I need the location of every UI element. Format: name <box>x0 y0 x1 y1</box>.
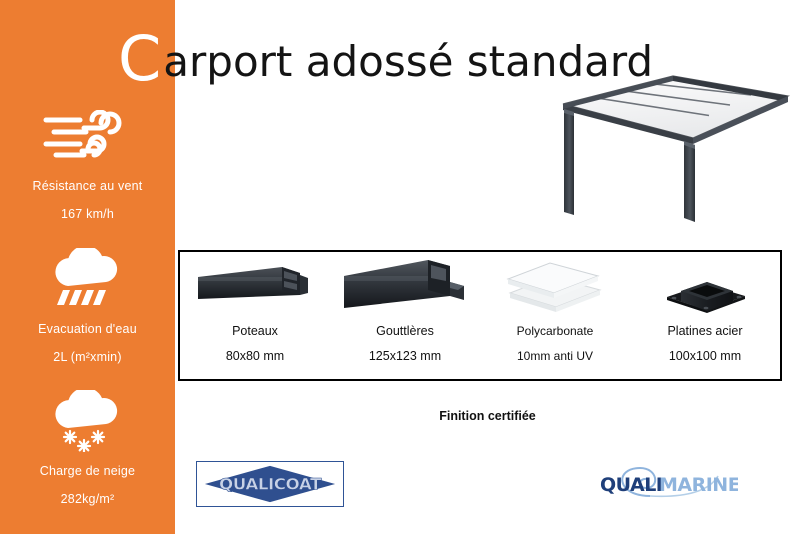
product-gouttieres-size: 125x123 mm <box>369 349 441 363</box>
gutter-profile-image <box>330 256 480 316</box>
carport-3d-render <box>545 52 795 222</box>
certification-heading: Finition certifiée <box>0 409 800 423</box>
spec-water-label: Evacuation d'eau <box>0 322 175 336</box>
spec-wind-label: Résistance au vent <box>0 179 175 193</box>
spec-wind-value: 167 km/h <box>0 207 175 221</box>
polycarbonate-sheet-image <box>480 256 630 316</box>
spec-wind: Résistance au vent 167 km/h <box>0 105 175 221</box>
qualimarine-logo: QUALI MARINE <box>592 462 738 504</box>
product-polycarbonate: Polycarbonate 10mm anti UV <box>480 252 630 379</box>
qualicoat-logo: QUALICOAT <box>196 461 344 507</box>
product-polycarbonate-name: Polycarbonate <box>517 324 594 338</box>
product-gouttieres-name: Gouttlères <box>376 324 434 338</box>
product-poteaux: Poteaux 80x80 mm <box>180 252 330 379</box>
wind-icon <box>0 105 175 167</box>
components-box: Poteaux 80x80 mm <box>178 250 782 381</box>
spec-snow-label: Charge de neige <box>0 464 175 478</box>
product-platines-name: Platines acier <box>667 324 742 338</box>
spec-water: Evacuation d'eau 2L (m²xmin) <box>0 248 175 364</box>
post-profile-image <box>180 256 330 316</box>
svg-text:MARINE: MARINE <box>659 474 738 496</box>
rain-cloud-icon <box>0 248 175 310</box>
carport-product-sheet: Résistance au vent 167 km/h Evacuation d… <box>0 0 800 534</box>
product-polycarbonate-size: 10mm anti UV <box>517 349 593 363</box>
product-poteaux-size: 80x80 mm <box>226 349 284 363</box>
product-gouttieres: Gouttlères 125x123 mm <box>330 252 480 379</box>
svg-text:QUALI: QUALI <box>600 474 662 496</box>
spec-water-value: 2L (m²xmin) <box>0 350 175 364</box>
spec-snow: Charge de neige 282kg/m² <box>0 390 175 506</box>
svg-text:QUALICOAT: QUALICOAT <box>219 475 322 494</box>
page-title-initial: C <box>118 28 161 90</box>
spec-snow-value: 282kg/m² <box>0 492 175 506</box>
product-platines: Platines acier 100x100 mm <box>630 252 780 379</box>
product-poteaux-name: Poteaux <box>232 324 278 338</box>
steel-base-plate-image <box>630 256 780 316</box>
product-platines-size: 100x100 mm <box>669 349 741 363</box>
